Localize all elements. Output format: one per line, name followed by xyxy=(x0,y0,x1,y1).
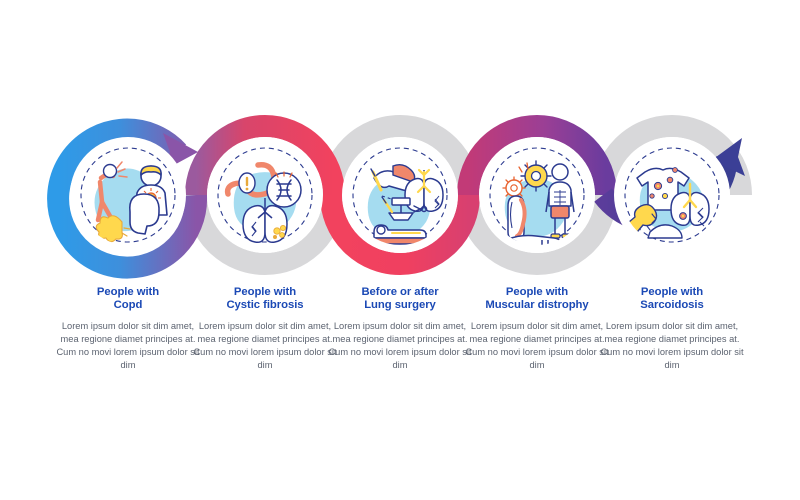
step-description-5: Lorem ipsum dolor sit dim amet, mea regi… xyxy=(596,320,748,373)
step-text-5: People with Sarcoidosis Lorem ipsum dolo… xyxy=(596,286,748,373)
step-title-3: Before or after Lung surgery xyxy=(324,286,476,313)
step-description-3: Lorem ipsum dolor sit dim amet, mea regi… xyxy=(324,320,476,373)
step-text-1: People with Copd Lorem ipsum dolor sit d… xyxy=(52,286,204,373)
step-text-2: People with Cystic fibrosis Lorem ipsum … xyxy=(189,286,341,373)
serpentine-ribbon-diagram xyxy=(0,0,800,500)
step-title-5: People with Sarcoidosis xyxy=(596,286,748,313)
step-title-1: People with Copd xyxy=(52,286,204,313)
infographic-canvas: People with Copd Lorem ipsum dolor sit d… xyxy=(0,0,800,500)
step-description-4: Lorem ipsum dolor sit dim amet, mea regi… xyxy=(461,320,613,373)
step-description-2: Lorem ipsum dolor sit dim amet, mea regi… xyxy=(189,320,341,373)
step-description-1: Lorem ipsum dolor sit dim amet, mea regi… xyxy=(52,320,204,373)
step-title-2: People with Cystic fibrosis xyxy=(189,286,341,313)
step-text-4: People with Muscular distrophy Lorem ips… xyxy=(461,286,613,373)
step-title-4: People with Muscular distrophy xyxy=(461,286,613,313)
step-text-3: Before or after Lung surgery Lorem ipsum… xyxy=(324,286,476,373)
